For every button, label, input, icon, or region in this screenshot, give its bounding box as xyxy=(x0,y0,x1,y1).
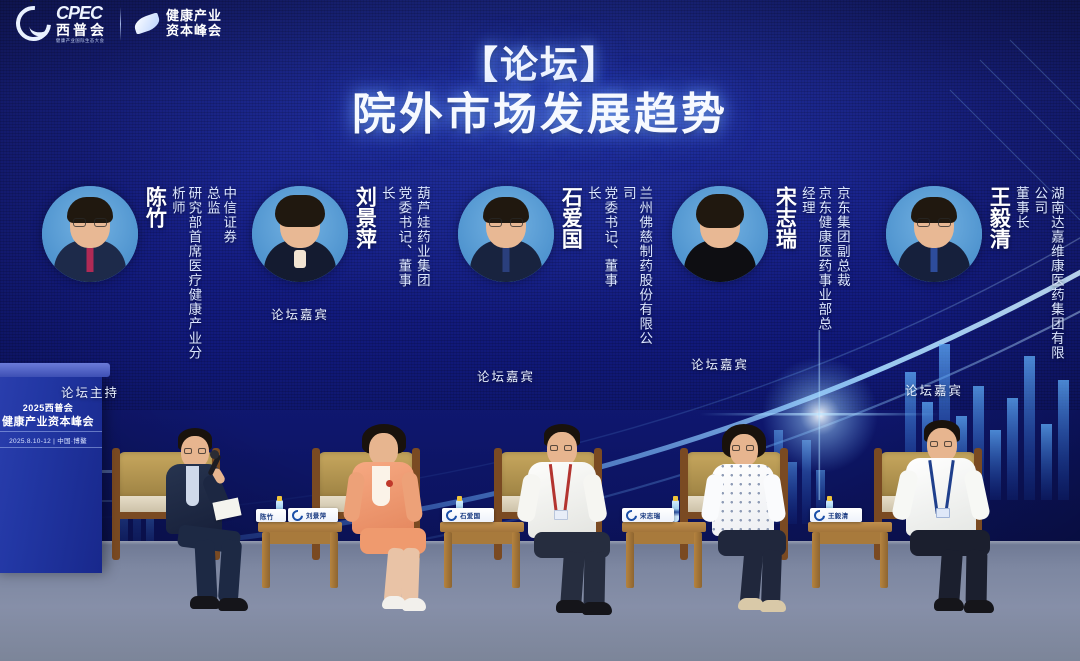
event-logo-bar: CPEC 西普会 健康产业国际生态大会 健康产业 资本峰会 xyxy=(16,4,222,44)
panelist-portrait-1 xyxy=(252,186,348,282)
seated-person-3 xyxy=(700,424,808,629)
panelist-org-0: 中信证券 总监 xyxy=(203,186,236,264)
summit-logo: 健康产业 资本峰会 xyxy=(134,9,222,38)
forum-title-line1: 【论坛】 xyxy=(0,47,1080,87)
leaf-icon xyxy=(134,13,160,35)
microphone-icon xyxy=(30,0,39,2)
panelist-name-4: 王毅清 xyxy=(988,186,1009,266)
panelist-portrait-2 xyxy=(458,186,554,282)
cpec-circle-logo-icon xyxy=(9,0,58,48)
panelist-org-1: 葫芦娃药业集团 xyxy=(413,186,429,290)
panelist-role-1: 论坛嘉宾 xyxy=(252,304,348,323)
nameplate-name-2: 宋志瑞 xyxy=(640,510,660,520)
panelist-portrait-4 xyxy=(886,186,982,282)
podium-line3: 2025.8.10-12 | 中国·博鳌 xyxy=(0,435,96,445)
side-table-2 xyxy=(622,522,706,588)
logo-divider xyxy=(120,7,121,41)
forum-title-block: 【论坛】 院外市场发展趋势 xyxy=(0,47,1080,141)
summit-logo-line1: 健康产业 xyxy=(166,9,222,24)
panelist-portrait-0 xyxy=(42,186,138,282)
panelist-card-2: 石爱国 兰州佛慈制药股份有限公司 党委书记、董事长 论坛嘉宾 xyxy=(458,186,652,436)
panelist-role-2: 论坛嘉宾 xyxy=(458,366,554,385)
nameplate-logo-icon xyxy=(812,507,827,522)
nameplate-logo-icon xyxy=(444,507,459,522)
nameplate-0: 刘景萍 xyxy=(288,508,338,522)
panelist-list: 陈竹 中信证券 总监 研究部首席医疗健康产业分析师 论坛主持 xyxy=(0,186,1080,436)
panelist-card-4: 王毅清 湖南达嘉维康医药集团有限公司 董事长 论坛嘉宾 xyxy=(886,186,1064,436)
panelist-name-1: 刘景萍 xyxy=(354,186,375,266)
nameplate-name-3: 王毅清 xyxy=(828,510,848,520)
panelist-name-0: 陈竹 xyxy=(144,186,165,244)
panelist-position-0: 研究部首席医疗健康产业分析师 xyxy=(168,186,201,372)
nameplate-name-1: 石爱国 xyxy=(460,510,480,520)
forum-title-line2: 院外市场发展趋势 xyxy=(0,89,1080,141)
cpec-logo: CPEC 西普会 健康产业国际生态大会 xyxy=(16,4,107,44)
nameplate-logo-icon xyxy=(624,507,639,522)
nameplate-2: 宋志瑞 xyxy=(622,508,674,522)
panelist-role-0: 论坛主持 xyxy=(42,382,138,401)
panelist-name-2: 石爱国 xyxy=(560,186,581,266)
panelist-org-4: 湖南达嘉维康医药集团有限公司 xyxy=(1031,186,1064,370)
panelist-card-3: 宋志瑞 京东集团副总裁 京东健康医药事业部总经理 论坛嘉宾 xyxy=(672,186,850,436)
seated-person-0 xyxy=(152,428,262,628)
nameplate-moderator: 陈竹 xyxy=(256,509,286,522)
nameplate-1: 石爱国 xyxy=(442,508,494,522)
summit-logo-line2: 资本峰会 xyxy=(166,24,222,39)
panelist-name-3: 宋志瑞 xyxy=(774,186,795,266)
panelist-role-3: 论坛嘉宾 xyxy=(672,354,768,373)
panelist-role-4: 论坛嘉宾 xyxy=(886,380,982,399)
side-table-0 xyxy=(258,522,342,588)
nameplate-name-0: 刘景萍 xyxy=(306,510,326,520)
panelist-position-2: 党委书记、董事长 xyxy=(584,186,617,294)
panelist-position-3: 京东健康医药事业部总经理 xyxy=(798,186,831,344)
nameplate-logo-icon xyxy=(290,507,305,522)
cpec-logo-subtitle: 健康产业国际生态大会 xyxy=(56,39,104,43)
panelist-portrait-3 xyxy=(672,186,768,282)
panelist-org-2: 兰州佛慈制药股份有限公司 xyxy=(619,186,652,356)
nameplate-name-moderator: 陈竹 xyxy=(260,511,274,521)
seated-person-2 xyxy=(518,424,630,629)
panelist-card-0: 陈竹 中信证券 总监 研究部首席医疗健康产业分析师 论坛主持 xyxy=(42,186,236,436)
side-table-3 xyxy=(808,522,892,588)
nameplate-3: 王毅清 xyxy=(810,508,862,522)
panelist-org-3: 京东集团副总裁 xyxy=(833,186,849,292)
cpec-logo-en: CPEC xyxy=(56,4,107,22)
panelist-card-1: 刘景萍 葫芦娃药业集团 党委书记、董事长 论坛嘉宾 xyxy=(252,186,430,436)
seated-person-4 xyxy=(896,420,1012,630)
panelist-position-1: 党委书记、董事长 xyxy=(378,186,411,294)
seated-person-1 xyxy=(340,424,450,629)
conference-stage-photo: CPEC 西普会 健康产业国际生态大会 健康产业 资本峰会 【论坛】 院外市场发… xyxy=(0,0,1080,661)
side-table-1 xyxy=(440,522,524,588)
panelist-position-4: 董事长 xyxy=(1012,186,1028,242)
cpec-logo-cn: 西普会 xyxy=(56,23,107,37)
